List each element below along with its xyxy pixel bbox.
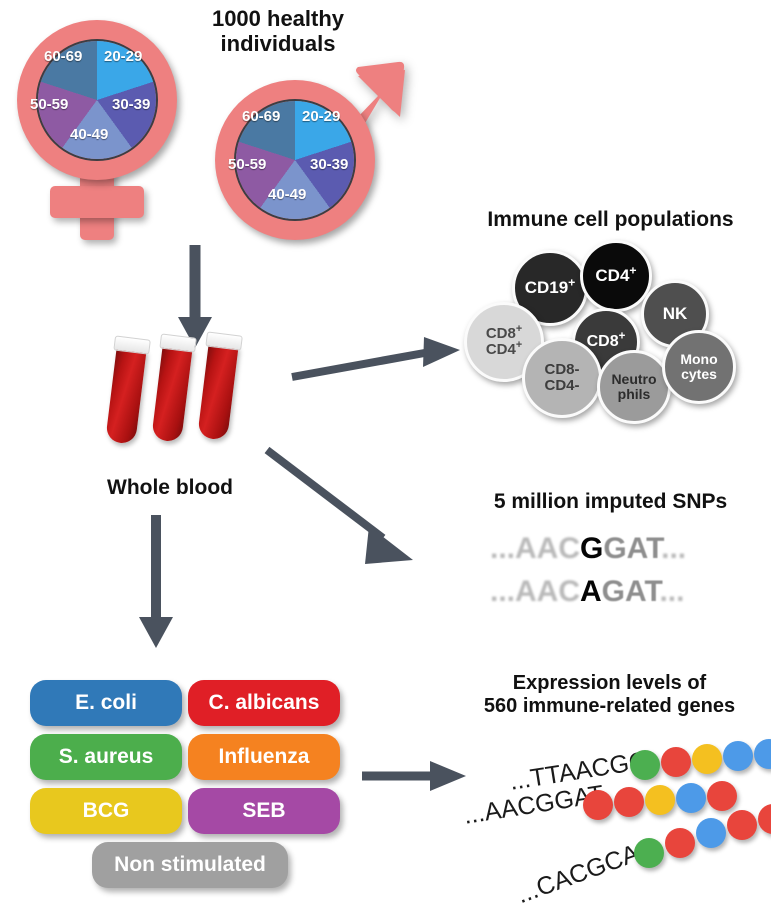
snp-allele-row: ...AACGGAT... [490, 532, 686, 566]
whole-blood-label: Whole blood [80, 476, 260, 500]
immune-cell-label-line1: CD8- [544, 362, 579, 378]
pie-label-30-39: 30-39 [112, 96, 150, 113]
blood-tube [196, 332, 246, 451]
immune-cell-cluster: CD19+ CD4+ CD8+ NK CD8+ CD4+ CD8- CD4- N… [450, 240, 771, 430]
immune-cell-label: CD4+ [595, 267, 636, 285]
pie-label-20-29: 20-29 [104, 48, 142, 65]
pie-label-40-49: 40-49 [70, 126, 108, 143]
stimulation-box-c-albicans[interactable]: C. albicans [188, 680, 340, 726]
stimulation-label: E. coli [75, 691, 137, 715]
immune-cell-monocytes: Mono cytes [662, 330, 736, 404]
pie-label-50-59: 50-59 [30, 96, 68, 113]
stimulation-label: BCG [83, 799, 130, 823]
stimulation-box-e-coli[interactable]: E. coli [30, 680, 182, 726]
pie-label-40-49: 40-49 [268, 186, 306, 203]
arrow-blood-to-immune [290, 335, 470, 395]
dna-bead [634, 838, 664, 868]
dna-bead [758, 804, 771, 834]
dna-bead [661, 747, 691, 777]
immune-cell-label: CD8+ [587, 334, 626, 351]
pie-label-30-39: 30-39 [310, 156, 348, 173]
blood-tube-body [151, 344, 192, 443]
snp-allele-row: ...AACAGAT... [490, 575, 684, 609]
female-symbol-crossbar [50, 186, 144, 218]
snp-prefix: ...AAC [490, 532, 580, 565]
immune-populations-title: Immune cell populations [450, 208, 771, 232]
blood-tube-body [197, 342, 238, 441]
dna-bead [676, 783, 706, 813]
whole-blood-tubes [110, 330, 290, 460]
stimulation-label: SEB [242, 799, 285, 823]
pie-label-20-29: 20-29 [302, 108, 340, 125]
immune-cell-cd4: CD4+ [580, 240, 652, 312]
immune-cell-label-line2: cytes [681, 367, 717, 382]
stimulation-box-seb[interactable]: SEB [188, 788, 340, 834]
cohort-title-line1: 1000 healthy [178, 6, 378, 31]
immune-cell-label-line2: phils [618, 387, 651, 402]
snp-tail: ... [661, 532, 686, 565]
pie-label-50-59: 50-59 [228, 156, 266, 173]
stimulation-box-influenza[interactable]: Influenza [188, 734, 340, 780]
stimulation-panel: E. coli C. albicans S. aureus Influenza … [30, 680, 350, 895]
immune-cell-label-line1: Mono [680, 352, 717, 367]
dna-bead [707, 781, 737, 811]
pie-label-60-69: 60-69 [242, 108, 280, 125]
stimulation-label: S. aureus [59, 745, 154, 769]
dna-bead [614, 787, 644, 817]
immune-cell-label-line2: CD4- [544, 378, 579, 394]
snp-variant-base: A [580, 575, 602, 608]
dna-bead [692, 744, 722, 774]
dna-bead [723, 741, 753, 771]
stimulation-label: C. albicans [209, 691, 320, 715]
snp-prefix: ...AAC [490, 575, 580, 608]
dna-bead [583, 790, 613, 820]
dna-bead [696, 818, 726, 848]
snp-suffix: GAT [603, 532, 661, 565]
snp-tail: ... [659, 575, 684, 608]
dna-bead [665, 828, 695, 858]
blood-tube [104, 336, 154, 455]
immune-cell-label-line2: CD4+ [486, 342, 522, 358]
male-gender-symbol: 20-29 30-39 40-49 50-59 60-69 [200, 30, 430, 255]
dna-bead [754, 739, 771, 769]
snp-sequences: ...AACGGAT... ...AACAGAT... [470, 532, 760, 622]
snps-title: 5 million imputed SNPs [450, 490, 771, 514]
snp-variant-base: G [580, 532, 603, 565]
immune-cell-neutrophils: Neutro phils [597, 350, 671, 424]
blood-tube [150, 334, 200, 453]
dna-bead [645, 785, 675, 815]
gene-expression-strands: ...TTAACGG ...AACGGAT ...CACGCAA [440, 730, 771, 910]
figure-canvas: 1000 healthy individuals 20-29 30-39 40-… [0, 0, 771, 922]
expression-title-line2: 560 immune-related genes [448, 695, 771, 718]
immune-cell-label: CD19+ [525, 279, 576, 297]
expression-title-line1: Expression levels of [448, 672, 771, 695]
snp-suffix: GAT [602, 575, 660, 608]
arrow-blood-to-stimulation [128, 515, 188, 655]
dna-bead [630, 750, 660, 780]
pie-label-60-69: 60-69 [44, 48, 82, 65]
female-gender-symbol: 20-29 30-39 40-49 50-59 60-69 [8, 8, 208, 248]
stimulation-label: Influenza [218, 745, 309, 769]
stimulation-box-non-stimulated[interactable]: Non stimulated [92, 842, 288, 888]
blood-tube-body [105, 346, 146, 445]
immune-cell-label-line1: Neutro [611, 372, 656, 387]
immune-cell-label: NK [663, 305, 688, 323]
immune-cell-cd8n-cd4n: CD8- CD4- [522, 338, 602, 418]
stimulation-box-bcg[interactable]: BCG [30, 788, 182, 834]
expression-title: Expression levels of 560 immune-related … [448, 672, 771, 718]
dna-bead [727, 810, 757, 840]
stimulation-box-s-aureus[interactable]: S. aureus [30, 734, 182, 780]
arrow-blood-to-snps [265, 448, 455, 598]
stimulation-label: Non stimulated [114, 853, 266, 877]
